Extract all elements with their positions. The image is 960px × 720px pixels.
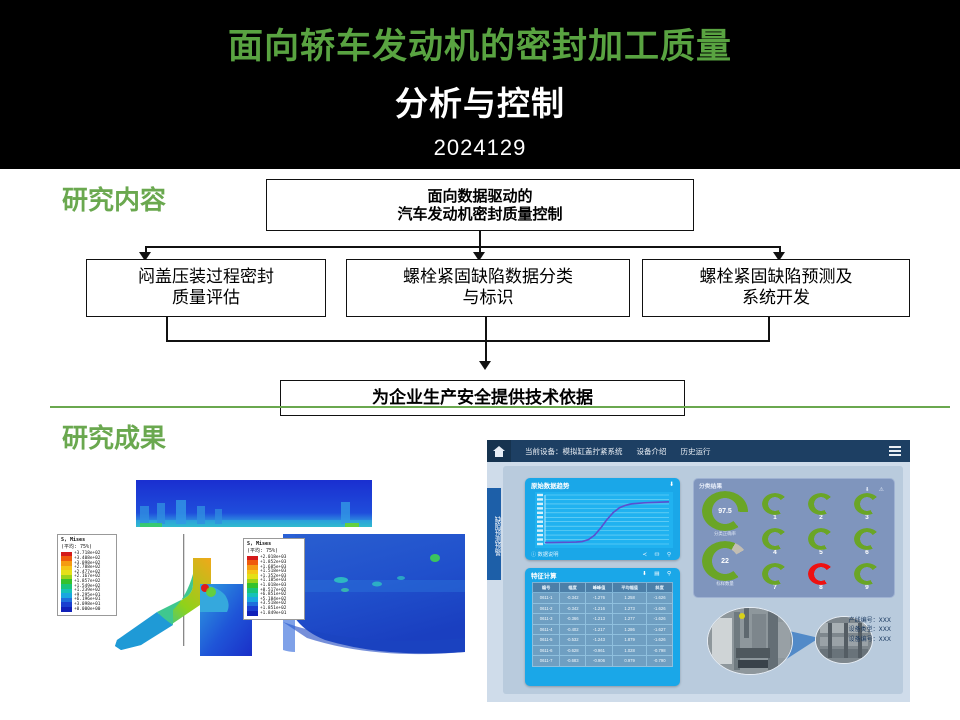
flow-box-child-2-line1: 螺栓紧固缺陷数据分类 — [403, 267, 573, 288]
fea-legend-value: +1.849e+01 — [260, 611, 286, 616]
feature-table-cell: 0611-1 — [533, 593, 560, 604]
feature-table-cell: 1.273 — [612, 603, 646, 614]
feature-table-cell: -0.906 — [586, 656, 613, 667]
feature-table-cell: -0.683 — [560, 656, 586, 667]
flow-box-child-1-line1: 闷盖压装过程密封 — [138, 267, 274, 288]
bolt-status-2[interactable]: 2 — [808, 493, 834, 521]
trend-chart-svg — [535, 492, 673, 548]
feature-table-header-cell: 编号 — [533, 583, 560, 593]
fea-legend-swatch — [247, 611, 258, 616]
chart-card-footer: ⓘ 数据说明 — [531, 551, 558, 558]
feature-table-cell: 1.258 — [612, 593, 646, 604]
bolt-number-4: 4 — [762, 549, 788, 556]
feature-table-cell: -0.342 — [560, 593, 586, 604]
meta-line-1: 产线编号：XXX — [849, 616, 891, 625]
feature-table-row[interactable]: 0611-1-0.342-1.2761.258-1.626 — [533, 593, 673, 604]
bolt-status-8[interactable]: 8 — [808, 563, 834, 591]
bolt-ring-5 — [808, 528, 834, 550]
feature-table-cell: -0.342 — [560, 603, 586, 614]
chart-ytick — [537, 525, 543, 527]
feature-table-title: 特征计算 — [531, 571, 557, 580]
flow-box-child-2: 螺栓紧固缺陷数据分类 与标识 — [346, 259, 630, 317]
trend-chart — [535, 492, 673, 548]
gauge-1-value: 97.5 — [702, 491, 748, 531]
feature-table-cell: 0611-6 — [533, 645, 560, 656]
table-card-tools[interactable]: ⬇ ▤ ⚲ — [642, 571, 674, 577]
meta-line-2: 设备类型：XXX — [849, 625, 891, 634]
feature-table-row[interactable]: 0611-3-0.366-1.2131.277-1.626 — [533, 614, 673, 625]
feature-table-cell: -1.626 — [647, 603, 673, 614]
fea-legend-right-title: S, Mises — [247, 542, 301, 548]
connector-horizontal-bus — [145, 246, 781, 248]
chart-card-tools[interactable]: ≺ ⛁ ⚲ — [642, 552, 674, 558]
feature-table-row[interactable]: 0611-6-0.628-0.9611.028-0.798 — [533, 645, 673, 656]
bolt-number-1: 1 — [762, 514, 788, 521]
feature-table-cell: 1.277 — [612, 614, 646, 625]
bolt-status-9[interactable]: 9 — [854, 563, 880, 591]
bolt-number-9: 9 — [854, 584, 880, 591]
bolt-ring-3 — [854, 493, 880, 515]
bolt-status-6[interactable]: 6 — [854, 528, 880, 556]
title-date: 2024129 — [0, 135, 960, 161]
feature-table-cell: -1.217 — [586, 624, 613, 635]
chart-series-line — [545, 502, 669, 543]
chart-ytick — [537, 543, 543, 545]
nav-item-device-intro[interactable]: 设备介绍 — [637, 446, 667, 457]
connector-merge-left — [166, 340, 486, 342]
fea-legend-left-subtitle: (平均: 75%) — [61, 545, 113, 551]
bolt-number-5: 5 — [808, 549, 834, 556]
chart-ytick — [537, 503, 543, 505]
hamburger-menu-icon[interactable] — [889, 446, 901, 458]
feature-table-row[interactable]: 0611-2-0.342-1.2161.273-1.626 — [533, 603, 673, 614]
chart-card-title: 原始数据趋势 — [531, 481, 569, 490]
meta-line-3: 设备编号：XXX — [849, 635, 891, 644]
gauge-1-caption: 分类正确率 — [695, 531, 755, 537]
feature-table-cell: -1.626 — [647, 614, 673, 625]
bolt-status-7[interactable]: 7 — [762, 563, 788, 591]
fea-legend-value: +0.000e+00 — [74, 607, 100, 612]
bolt-number-2: 2 — [808, 514, 834, 521]
feature-table-header-cell: 峰峰值 — [586, 583, 613, 593]
equipment-meta: 产线编号：XXX 设备类型：XXX 设备编号：XXX — [849, 616, 891, 644]
title-bar: 面向轿车发动机的密封加工质量 分析与控制 2024129 — [0, 0, 960, 169]
feature-table-cell: 0611-3 — [533, 614, 560, 625]
bolt-number-8: 8 — [808, 584, 834, 591]
chart-ytick — [537, 529, 543, 531]
flow-box-final: 为企业生产安全提供技术依据 — [280, 380, 685, 416]
fea-legend-row: +0.000e+00 — [61, 607, 113, 612]
feature-table-cell: 0611-5 — [533, 635, 560, 646]
feature-table-cell: 0.979 — [612, 656, 646, 667]
feature-table-cell: 1.879 — [612, 635, 646, 646]
chart-ytick — [537, 498, 543, 500]
equipment-photo-zone: 产线编号：XXX 设备类型：XXX 设备编号：XXX — [693, 602, 893, 686]
feature-table-cell: -1.626 — [647, 593, 673, 604]
feature-table-cell: 0611-4 — [533, 624, 560, 635]
feature-table-cell: -0.790 — [647, 656, 673, 667]
fea-legend-right: S, Mises (平均: 75%) +2.018e+03+1.852e+03+… — [243, 538, 305, 620]
feature-table-cell: -0.798 — [647, 645, 673, 656]
fea-simulation-figure: S, Mises (平均: 75%) +3.718e+02+3.408e+02+… — [45, 462, 475, 702]
fea-legend-row: +1.849e+01 — [247, 611, 301, 616]
feature-table-cell: 0611-7 — [533, 656, 560, 667]
gauge-2-value: 22 — [702, 541, 748, 581]
flow-box-root-line1: 面向数据驱动的 — [397, 187, 562, 205]
connector-child-3-down — [768, 317, 770, 341]
info-icon: ⓘ — [531, 552, 536, 558]
title-line-2: 分析与控制 — [0, 77, 960, 125]
feature-table-cell: -0.366 — [560, 614, 586, 625]
nav-item-history[interactable]: 历史运行 — [681, 446, 711, 457]
dashboard-inner-panel: 原始数据趋势 ⬇ ⓘ 数据说明 ≺ ⛁ ⚲ 特征计算 ⬇ ▤ ⚲ 编号幅度峰峰值… — [503, 466, 903, 694]
bolt-ring-1 — [762, 493, 788, 515]
feature-table-cell: 0611-2 — [533, 603, 560, 614]
chart-ytick — [537, 534, 543, 536]
feature-table-cell: 1.028 — [612, 645, 646, 656]
fea-legend-swatch — [61, 607, 72, 612]
fea-legend-left-rows: +3.718e+02+3.408e+02+3.098e+02+2.788e+02… — [61, 552, 113, 612]
chart-footer-label: 数据说明 — [538, 552, 559, 558]
section-heading-research-content: 研究内容 — [62, 180, 166, 217]
connector-child-1-down — [166, 317, 168, 341]
flow-box-child-3-line1: 螺栓紧固缺陷预测及 — [700, 267, 853, 288]
feature-table-body: 0611-1-0.342-1.2761.258-1.6260611-2-0.34… — [533, 593, 673, 667]
feature-table-cell: -1.276 — [586, 593, 613, 604]
classification-result-title: 分类结果 — [699, 481, 722, 490]
bolt-status-4[interactable]: 4 — [762, 528, 788, 556]
feature-table-header-cell: 斜度 — [647, 583, 673, 593]
bolt-number-6: 6 — [854, 549, 880, 556]
equipment-photo-main — [707, 607, 793, 675]
flow-box-child-3: 螺栓紧固缺陷预测及 系统开发 — [642, 259, 910, 317]
fea-legend-left-title: S, Mises — [61, 538, 113, 544]
flow-box-root-line2: 汽车发动机密封质量控制 — [397, 205, 562, 223]
feature-table-row[interactable]: 0611-7-0.683-0.9060.979-0.790 — [533, 656, 673, 667]
chart-ytick — [537, 521, 543, 523]
feature-table: 编号幅度峰峰值平均幅值斜度 0611-1-0.342-1.2761.258-1.… — [532, 582, 673, 667]
section-heading-research-results: 研究成果 — [62, 418, 166, 455]
feature-table-cell: -1.243 — [586, 635, 613, 646]
feature-table-cell: -0.532 — [560, 635, 586, 646]
feature-table-row[interactable]: 0611-5-0.532-1.2431.879-1.626 — [533, 635, 673, 646]
feature-table-cell: -0.628 — [560, 645, 586, 656]
flow-box-child-2-line2: 与标识 — [403, 288, 573, 309]
gauge-2-caption: 标样数量 — [695, 581, 755, 587]
connector-root-down — [479, 231, 481, 247]
fea-legend-right-rows: +2.018e+03+1.852e+03+1.685e+03+1.518e+03… — [247, 556, 301, 616]
flow-box-child-3-line2: 系统开发 — [700, 288, 853, 309]
chart-ytick — [537, 538, 543, 540]
feature-table-header-row: 编号幅度峰峰值平均幅值斜度 — [533, 583, 673, 593]
feature-table-cell: 1.286 — [612, 624, 646, 635]
current-device-label: 当前设备：模拟缸盖拧紧系统 — [525, 446, 623, 457]
flow-box-child-1-line2: 质量评估 — [138, 288, 274, 309]
bolt-ring-6 — [854, 528, 880, 550]
title-line-1: 面向轿车发动机的密封加工质量 — [0, 18, 960, 69]
bolt-ring-2 — [808, 493, 834, 515]
chart-ytick — [537, 494, 543, 496]
arrow-final — [479, 361, 491, 370]
feature-table-cell: -1.626 — [647, 635, 673, 646]
dashboard-screenshot: 当前设备：模拟缸盖拧紧系统 设备介绍 历史运行 缺陷预测预警 原始数据趋势 ⬇ … — [487, 440, 910, 702]
feature-table-cell: -1.213 — [586, 614, 613, 625]
bolt-status-1[interactable]: 1 — [762, 493, 788, 521]
chart-download-icon[interactable]: ⬇ — [669, 481, 674, 488]
feature-table-header-cell: 幅度 — [560, 583, 586, 593]
flow-box-child-1: 闷盖压装过程密封 质量评估 — [86, 259, 326, 317]
bolt-number-3: 3 — [854, 514, 880, 521]
feature-table-cell: -1.627 — [647, 624, 673, 635]
bolt-status-3[interactable]: 3 — [854, 493, 880, 521]
home-icon[interactable] — [487, 440, 511, 462]
feature-table-card: 特征计算 ⬇ ▤ ⚲ 编号幅度峰峰值平均幅值斜度 0611-1-0.342-1.… — [525, 568, 680, 686]
feature-table-cell: -1.216 — [586, 603, 613, 614]
side-tab-defect-warning[interactable]: 缺陷预测预警 — [487, 488, 501, 580]
feature-table-header-cell: 平均幅值 — [612, 583, 646, 593]
feature-table-cell: -0.961 — [586, 645, 613, 656]
feature-table-row[interactable]: 0611-4-0.402-1.2171.286-1.627 — [533, 624, 673, 635]
chart-ytick — [537, 516, 543, 518]
chart-card: 原始数据趋势 ⬇ ⓘ 数据说明 ≺ ⛁ ⚲ — [525, 478, 680, 560]
chart-ytick — [537, 512, 543, 514]
connector-merge-right — [485, 340, 770, 342]
bolt-status-5[interactable]: 5 — [808, 528, 834, 556]
classification-result-card: 分类结果 ⬇ ⚠ 97.5分类正确率22标样数量 123456789 — [693, 478, 895, 598]
bolt-ring-9 — [854, 563, 880, 585]
dashboard-header: 当前设备：模拟缸盖拧紧系统 设备介绍 历史运行 — [487, 440, 910, 462]
bolt-ring-8 — [808, 563, 834, 585]
bolt-ring-7 — [762, 563, 788, 585]
dashboard-body: 缺陷预测预警 原始数据趋势 ⬇ ⓘ 数据说明 ≺ ⛁ ⚲ 特征计算 ⬇ ▤ ⚲ — [487, 462, 910, 702]
feature-table-cell: -0.402 — [560, 624, 586, 635]
chart-ytick — [537, 507, 543, 509]
fea-legend-left: S, Mises (平均: 75%) +3.718e+02+3.408e+02+… — [57, 534, 117, 616]
section-divider — [50, 406, 950, 408]
fea-legend-right-subtitle: (平均: 75%) — [247, 549, 301, 555]
bolt-number-7: 7 — [762, 584, 788, 591]
flow-box-root: 面向数据驱动的 汽车发动机密封质量控制 — [266, 179, 694, 231]
bolt-ring-4 — [762, 528, 788, 550]
